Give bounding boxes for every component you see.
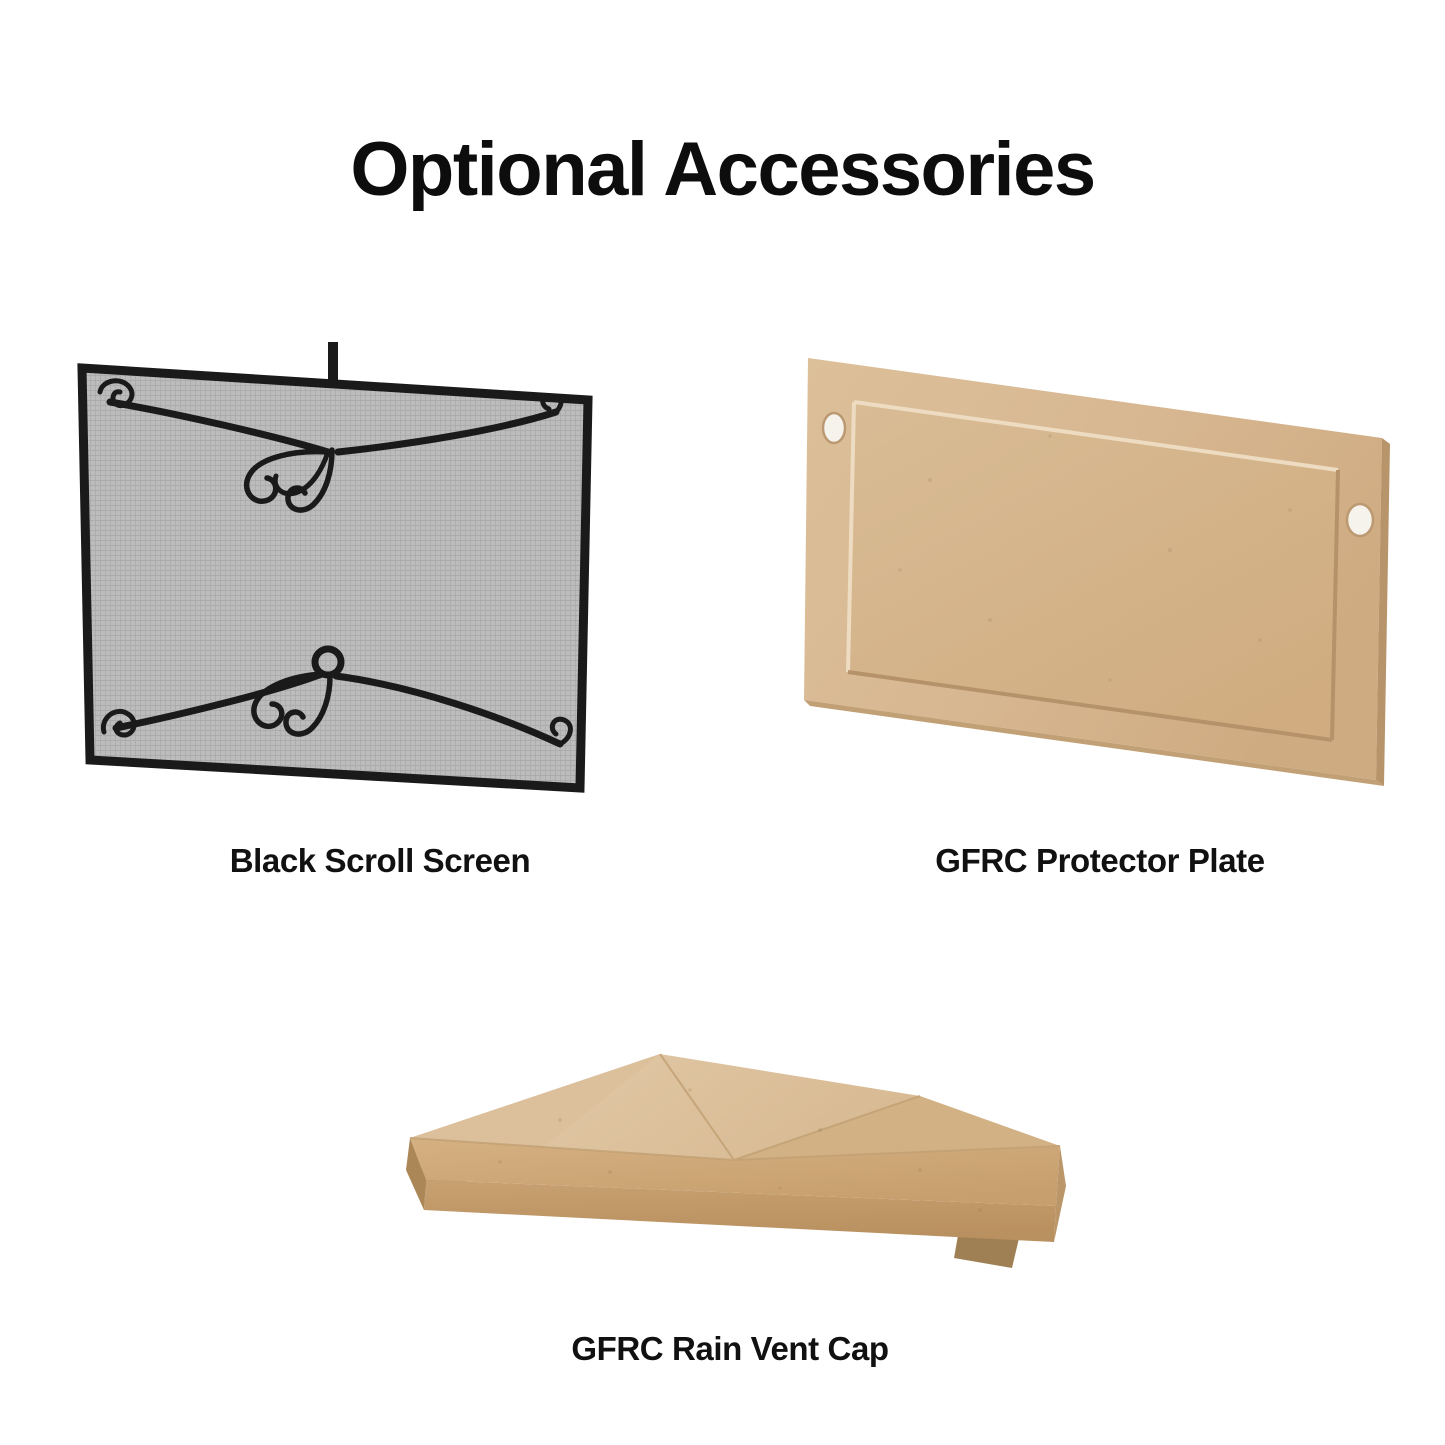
concrete-plate-icon [790,340,1410,820]
plate-mounting-hole-left [823,413,845,443]
product-label-gfrc-protector-plate: GFRC Protector Plate [790,842,1410,880]
product-card-black-scroll-screen[interactable]: Black Scroll Screen [60,340,700,880]
product-card-gfrc-rain-vent-cap[interactable]: GFRC Rain Vent Cap [360,1010,1100,1368]
plate-mounting-hole-right [1347,504,1373,536]
concrete-cap-icon [360,1010,1100,1300]
product-label-black-scroll-screen: Black Scroll Screen [60,842,700,880]
fireplace-screen-icon [60,340,700,820]
accessories-page: Optional Accessories [0,0,1445,1445]
product-card-gfrc-protector-plate[interactable]: GFRC Protector Plate [790,340,1410,880]
product-label-gfrc-rain-vent-cap: GFRC Rain Vent Cap [360,1330,1100,1368]
page-title: Optional Accessories [0,132,1445,208]
